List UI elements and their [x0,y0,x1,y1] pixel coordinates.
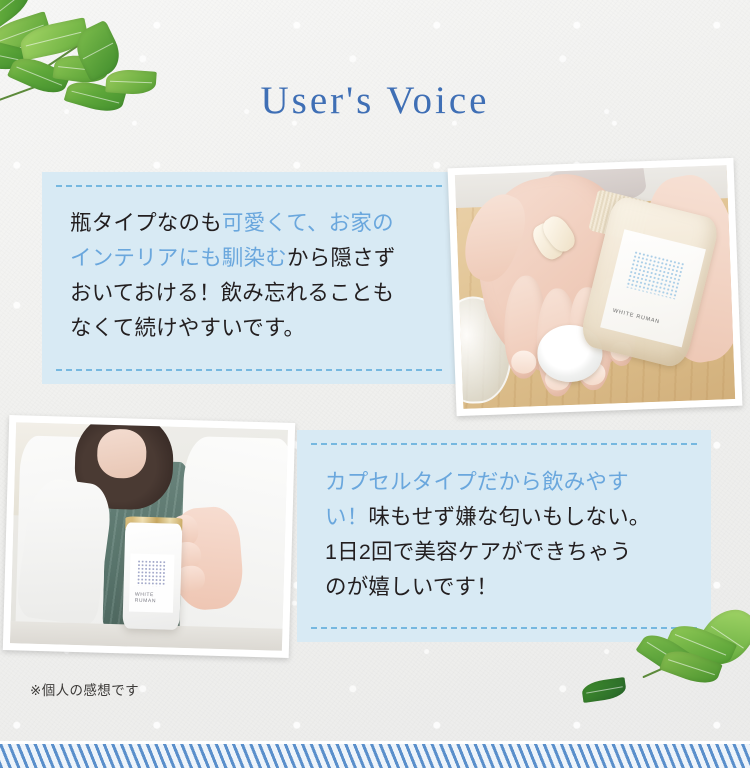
quote-segment-highlight: カプセルタイプだから飲みやす [325,470,629,494]
testimonial-2-line-1: カプセルタイプだから飲みやす [325,465,651,500]
users-voice-section: User's Voice 瓶タイプなのも可愛くて、お家の インテリアにも馴染むか… [0,0,750,768]
disclaimer-note: ※個人の感想です [30,679,139,699]
bottle-label-text: WHITE RUMAN [613,308,661,325]
label-dot-pattern [137,560,166,587]
quote-segment: 瓶タイプなのも [70,211,222,235]
panel-1-dashed-top-rule [56,185,442,187]
testimonial-1-line-1: 瓶タイプなのも可愛くて、お家の [70,206,396,241]
testimonial-1-text: 瓶タイプなのも可愛くて、お家の インテリアにも馴染むから隠さず おいておける！飲… [70,206,396,346]
leaf-branch-bottom-right-icon [576,608,750,718]
testimonial-1-line-3: おいておける！飲み忘れることも [70,276,396,311]
quote-segment: のが嬉しいです！ [325,575,498,599]
photo-hands-with-capsules-image: WHITE RUMAN [455,165,735,409]
quote-segment: 1日2回で美容ケアができちゃう [325,540,631,564]
quote-segment: から隠さず [287,246,396,270]
page-title: User's Voice [0,78,750,123]
testimonial-2-text: カプセルタイプだから飲みやす い！味もせず嫌な匂いもしない。 1日2回で美容ケア… [325,465,651,605]
quote-segment-highlight: インテリアにも馴染む [70,246,287,270]
label-dot-pattern [626,251,686,301]
testimonial-2-line-3: 1日2回で美容ケアができちゃう [325,535,651,570]
bottle-label: WHITE RUMAN [129,554,174,613]
photo-hands-with-capsules: WHITE RUMAN [448,158,743,416]
quote-segment-highlight: 可愛くて、お家の [222,211,394,235]
testimonial-2-line-2: い！味もせず嫌な匂いもしない。 [325,500,651,535]
quote-segment: 味もせず嫌な匂いもしない。 [368,505,650,529]
quote-segment: なくて続けやすいです。 [70,316,305,340]
quote-segment: おいておける！飲み忘れることも [70,281,394,305]
panel-2-dashed-top-rule [311,443,697,445]
photo-woman-holding-bottle: WHITE RUMAN [3,415,295,658]
bottom-striped-band [0,744,750,768]
testimonial-2-line-4: のが嬉しいです！ [325,570,651,605]
bottle-label-text: WHITE RUMAN [135,591,174,604]
photo-woman-holding-bottle-image: WHITE RUMAN [10,422,288,651]
quote-segment-highlight: い！ [325,505,368,529]
testimonial-1-line-4: なくて続けやすいです。 [70,311,396,346]
testimonial-1-line-2: インテリアにも馴染むから隠さず [70,241,396,276]
panel-1-dashed-bottom-rule [56,369,442,371]
